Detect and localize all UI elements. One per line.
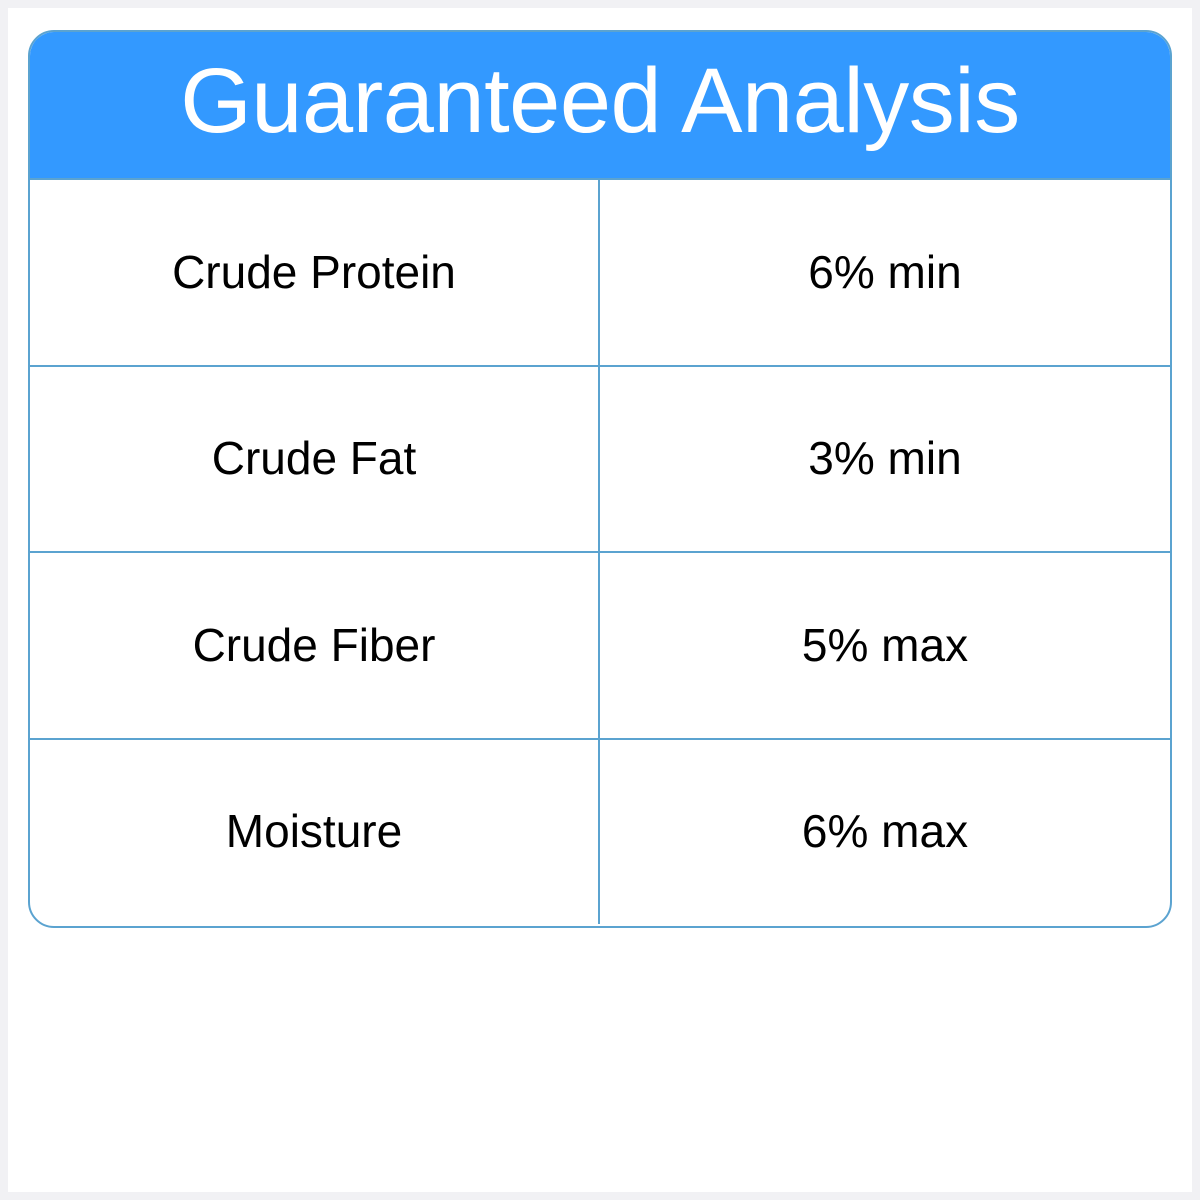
nutrient-value-cell: 6% min xyxy=(600,180,1170,365)
card-header: Guaranteed Analysis xyxy=(30,32,1170,180)
table-row: Crude Protein 6% min xyxy=(30,180,1170,367)
nutrient-label-cell: Moisture xyxy=(30,740,600,925)
table-row: Crude Fiber 5% max xyxy=(30,553,1170,740)
nutrient-label-cell: Crude Fat xyxy=(30,367,600,552)
nutrient-value-cell: 3% min xyxy=(600,367,1170,552)
nutrient-value-cell: 5% max xyxy=(600,553,1170,738)
nutrient-value-cell: 6% max xyxy=(600,740,1170,925)
table-row: Crude Fat 3% min xyxy=(30,367,1170,554)
nutrient-label-cell: Crude Protein xyxy=(30,180,600,365)
table-row: Moisture 6% max xyxy=(30,740,1170,925)
guaranteed-analysis-table: Crude Protein 6% min Crude Fat 3% min Cr… xyxy=(30,180,1170,924)
page-canvas: Guaranteed Analysis Crude Protein 6% min… xyxy=(8,8,1192,1192)
nutrient-label-cell: Crude Fiber xyxy=(30,553,600,738)
page-title: Guaranteed Analysis xyxy=(180,55,1019,155)
guaranteed-analysis-card: Guaranteed Analysis Crude Protein 6% min… xyxy=(28,30,1172,928)
